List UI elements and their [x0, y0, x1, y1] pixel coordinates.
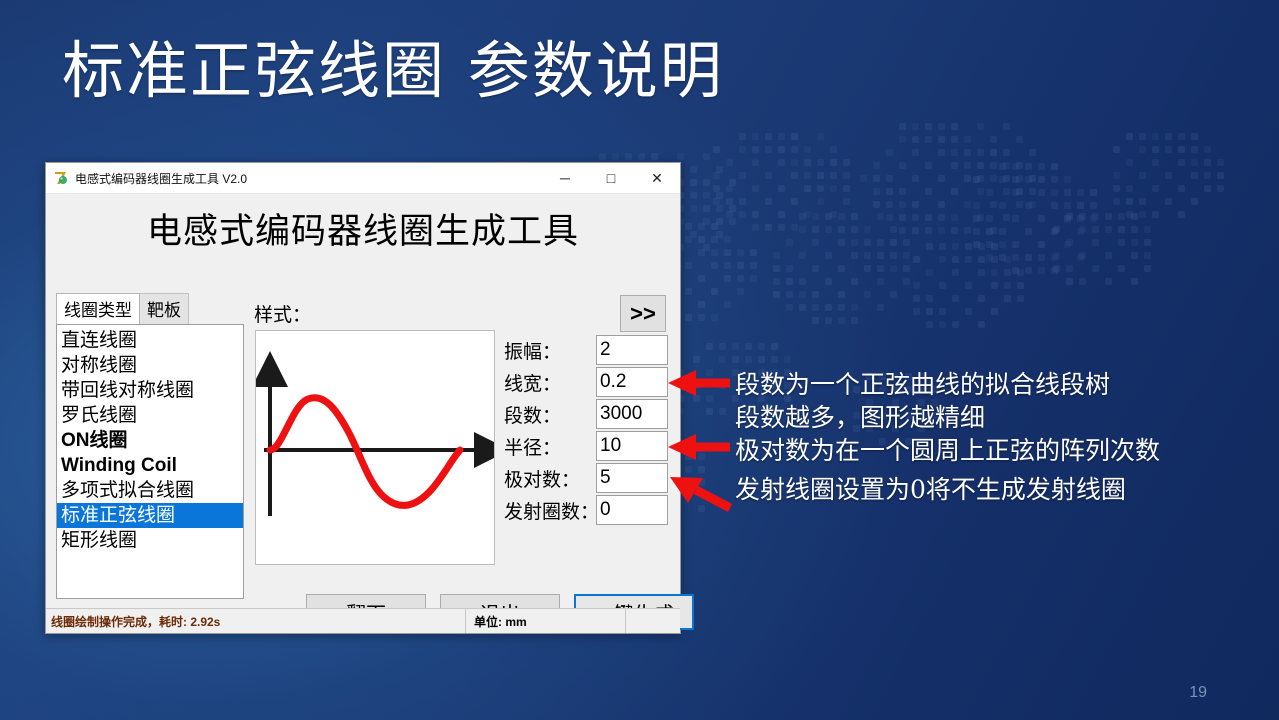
window-controls: ─ □ ✕	[542, 163, 680, 193]
maximize-button[interactable]: □	[588, 163, 634, 193]
app-logo-icon	[53, 170, 69, 186]
parameter-input[interactable]: 10	[596, 431, 668, 461]
parameter-row: 振幅：2	[504, 334, 674, 366]
list-item[interactable]: 带回线对称线圈	[57, 378, 243, 403]
page-number: 19	[1189, 684, 1207, 702]
annotation-line-1: 段数为一个正弦曲线的拟合线段树	[735, 368, 1279, 401]
parameter-row: 发射圈数：0	[504, 494, 674, 526]
status-spacer	[625, 609, 680, 633]
list-item[interactable]: Winding Coil	[57, 453, 243, 478]
tab-target-plate[interactable]: 靶板	[139, 293, 189, 324]
list-item[interactable]: 标准正弦线圈	[57, 503, 243, 528]
annotation-line-2: 段数越多，图形越精细	[735, 401, 1279, 434]
annotation-text-block: 段数为一个正弦曲线的拟合线段树 段数越多，图形越精细 极对数为在一个圆周上正弦的…	[735, 368, 1279, 506]
parameter-label: 发射圈数：	[504, 497, 596, 524]
expand-button[interactable]: >>	[620, 295, 666, 332]
parameter-label: 极对数：	[504, 465, 596, 492]
page-title: 标准正弦线圈 参数说明	[62, 36, 724, 105]
parameter-panel: 振幅：2线宽：0.2段数：3000半径：10极对数：5发射圈数：0	[504, 334, 674, 526]
status-bar: 线圈绘制操作完成，耗时: 2.92s 单位: mm	[46, 608, 680, 633]
sine-waveform-svg	[256, 331, 494, 564]
parameter-row: 极对数：5	[504, 462, 674, 494]
status-unit: 单位: mm	[465, 609, 625, 633]
list-item[interactable]: 罗氏线圈	[57, 403, 243, 428]
slide-canvas: 标准正弦线圈 参数说明 19 电感式编码器线圈生成工具 V2.0 ─ □ ✕ 电…	[0, 0, 1279, 720]
annotation-line-4: 发射线圈设置为0将不生成发射线圈	[735, 473, 1279, 506]
minimize-button[interactable]: ─	[542, 163, 588, 193]
parameter-label: 半径：	[504, 433, 596, 460]
annotation-line-3: 极对数为在一个圆周上正弦的阵列次数	[735, 434, 1279, 467]
tab-coil-type[interactable]: 线圈类型	[56, 293, 140, 324]
parameter-input[interactable]: 2	[596, 335, 668, 365]
parameter-row: 半径：10	[504, 430, 674, 462]
app-heading: 电感式编码器线圈生成工具	[46, 194, 680, 254]
list-item[interactable]: 矩形线圈	[57, 528, 243, 553]
waveform-preview	[255, 330, 495, 565]
preview-label: 样式：	[254, 300, 311, 327]
parameter-row: 线宽：0.2	[504, 366, 674, 398]
parameter-input[interactable]: 5	[596, 463, 668, 493]
tab-bar: 线圈类型 靶板	[56, 296, 188, 324]
parameter-row: 段数：3000	[504, 398, 674, 430]
parameter-input[interactable]: 3000	[596, 399, 668, 429]
coil-type-listbox[interactable]: 直连线圈对称线圈带回线对称线圈罗氏线圈ON线圈Winding Coil多项式拟合…	[56, 324, 244, 599]
list-item[interactable]: ON线圈	[57, 428, 243, 453]
window-body: 电感式编码器线圈生成工具 线圈类型 靶板 直连线圈对称线圈带回线对称线圈罗氏线圈…	[46, 194, 680, 633]
parameter-input[interactable]: 0	[596, 495, 668, 525]
list-item[interactable]: 多项式拟合线圈	[57, 478, 243, 503]
list-item[interactable]: 对称线圈	[57, 353, 243, 378]
parameter-input[interactable]: 0.2	[596, 367, 668, 397]
list-item[interactable]: 直连线圈	[57, 328, 243, 353]
parameter-label: 振幅：	[504, 337, 596, 364]
parameter-label: 线宽：	[504, 369, 596, 396]
close-button[interactable]: ✕	[634, 163, 680, 193]
window-titlebar[interactable]: 电感式编码器线圈生成工具 V2.0 ─ □ ✕	[46, 163, 680, 194]
app-window: 电感式编码器线圈生成工具 V2.0 ─ □ ✕ 电感式编码器线圈生成工具 线圈类…	[45, 162, 681, 634]
status-message: 线圈绘制操作完成，耗时: 2.92s	[46, 613, 220, 630]
window-title-text: 电感式编码器线圈生成工具 V2.0	[75, 170, 247, 187]
parameter-label: 段数：	[504, 401, 596, 428]
